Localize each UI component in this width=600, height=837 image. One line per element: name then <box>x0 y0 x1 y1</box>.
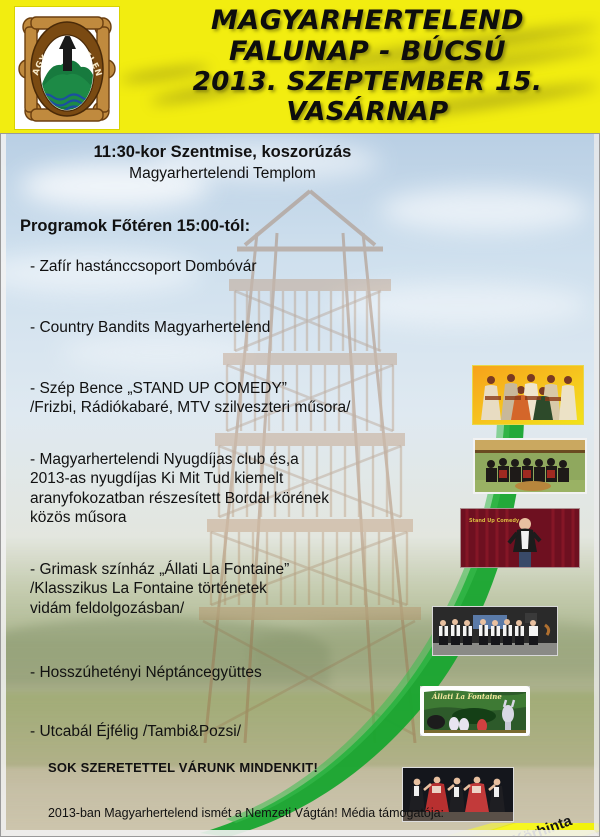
programs-heading: Programok Főtéren 15:00-tól: <box>20 217 250 236</box>
village-coat-of-arms: MAGYARHERTELEND <box>14 6 120 130</box>
poster-title: MAGYARHERTELEND FALUNAP - BÚCSÚ 2013. SZ… <box>140 5 595 125</box>
mass-venue: Magyarhertelendi Templom <box>0 165 445 183</box>
poster-header: MAGYARHERTELEND <box>0 0 600 135</box>
poster-body: Stand Up Comedy <box>0 133 600 837</box>
program-content: 11:30-kor Szentmise, koszorúzás Magyarhe… <box>0 133 600 837</box>
welcome-message: SOK SZERETETTEL VÁRUNK MINDENKIT! <box>48 760 318 775</box>
program-item: - Hosszúhetényi Néptáncegyüttes <box>30 663 262 682</box>
festival-poster: MAGYARHERTELEND <box>0 0 600 837</box>
title-line-date: 2013. SZEPTEMBER 15. <box>140 65 595 95</box>
title-line-village: MAGYARHERTELEND <box>140 5 595 34</box>
program-item: - Zafír hastánccsoport Dombóvár <box>30 257 257 276</box>
title-line-event: FALUNAP - BÚCSÚ <box>140 34 595 65</box>
program-item: - Magyarhertelendi Nyugdíjas club és,a 2… <box>30 450 329 528</box>
title-line-weekday: VASÁRNAP <box>140 95 595 125</box>
program-item: - Grimask színház „Állati La Fontaine” /… <box>30 560 289 618</box>
program-item: - Szép Bence „STAND UP COMEDY” /Frizbi, … <box>30 379 350 418</box>
mass-time: 11:30-kor Szentmise, koszorúzás <box>0 143 445 162</box>
media-sponsor-note: 2013-ban Magyarhertelend ismét a Nemzeti… <box>0 806 492 820</box>
program-item: - Utcabál Éjfélig /Tambi&Pozsi/ <box>30 722 241 741</box>
program-item: - Country Bandits Magyarhertelend <box>30 318 270 337</box>
